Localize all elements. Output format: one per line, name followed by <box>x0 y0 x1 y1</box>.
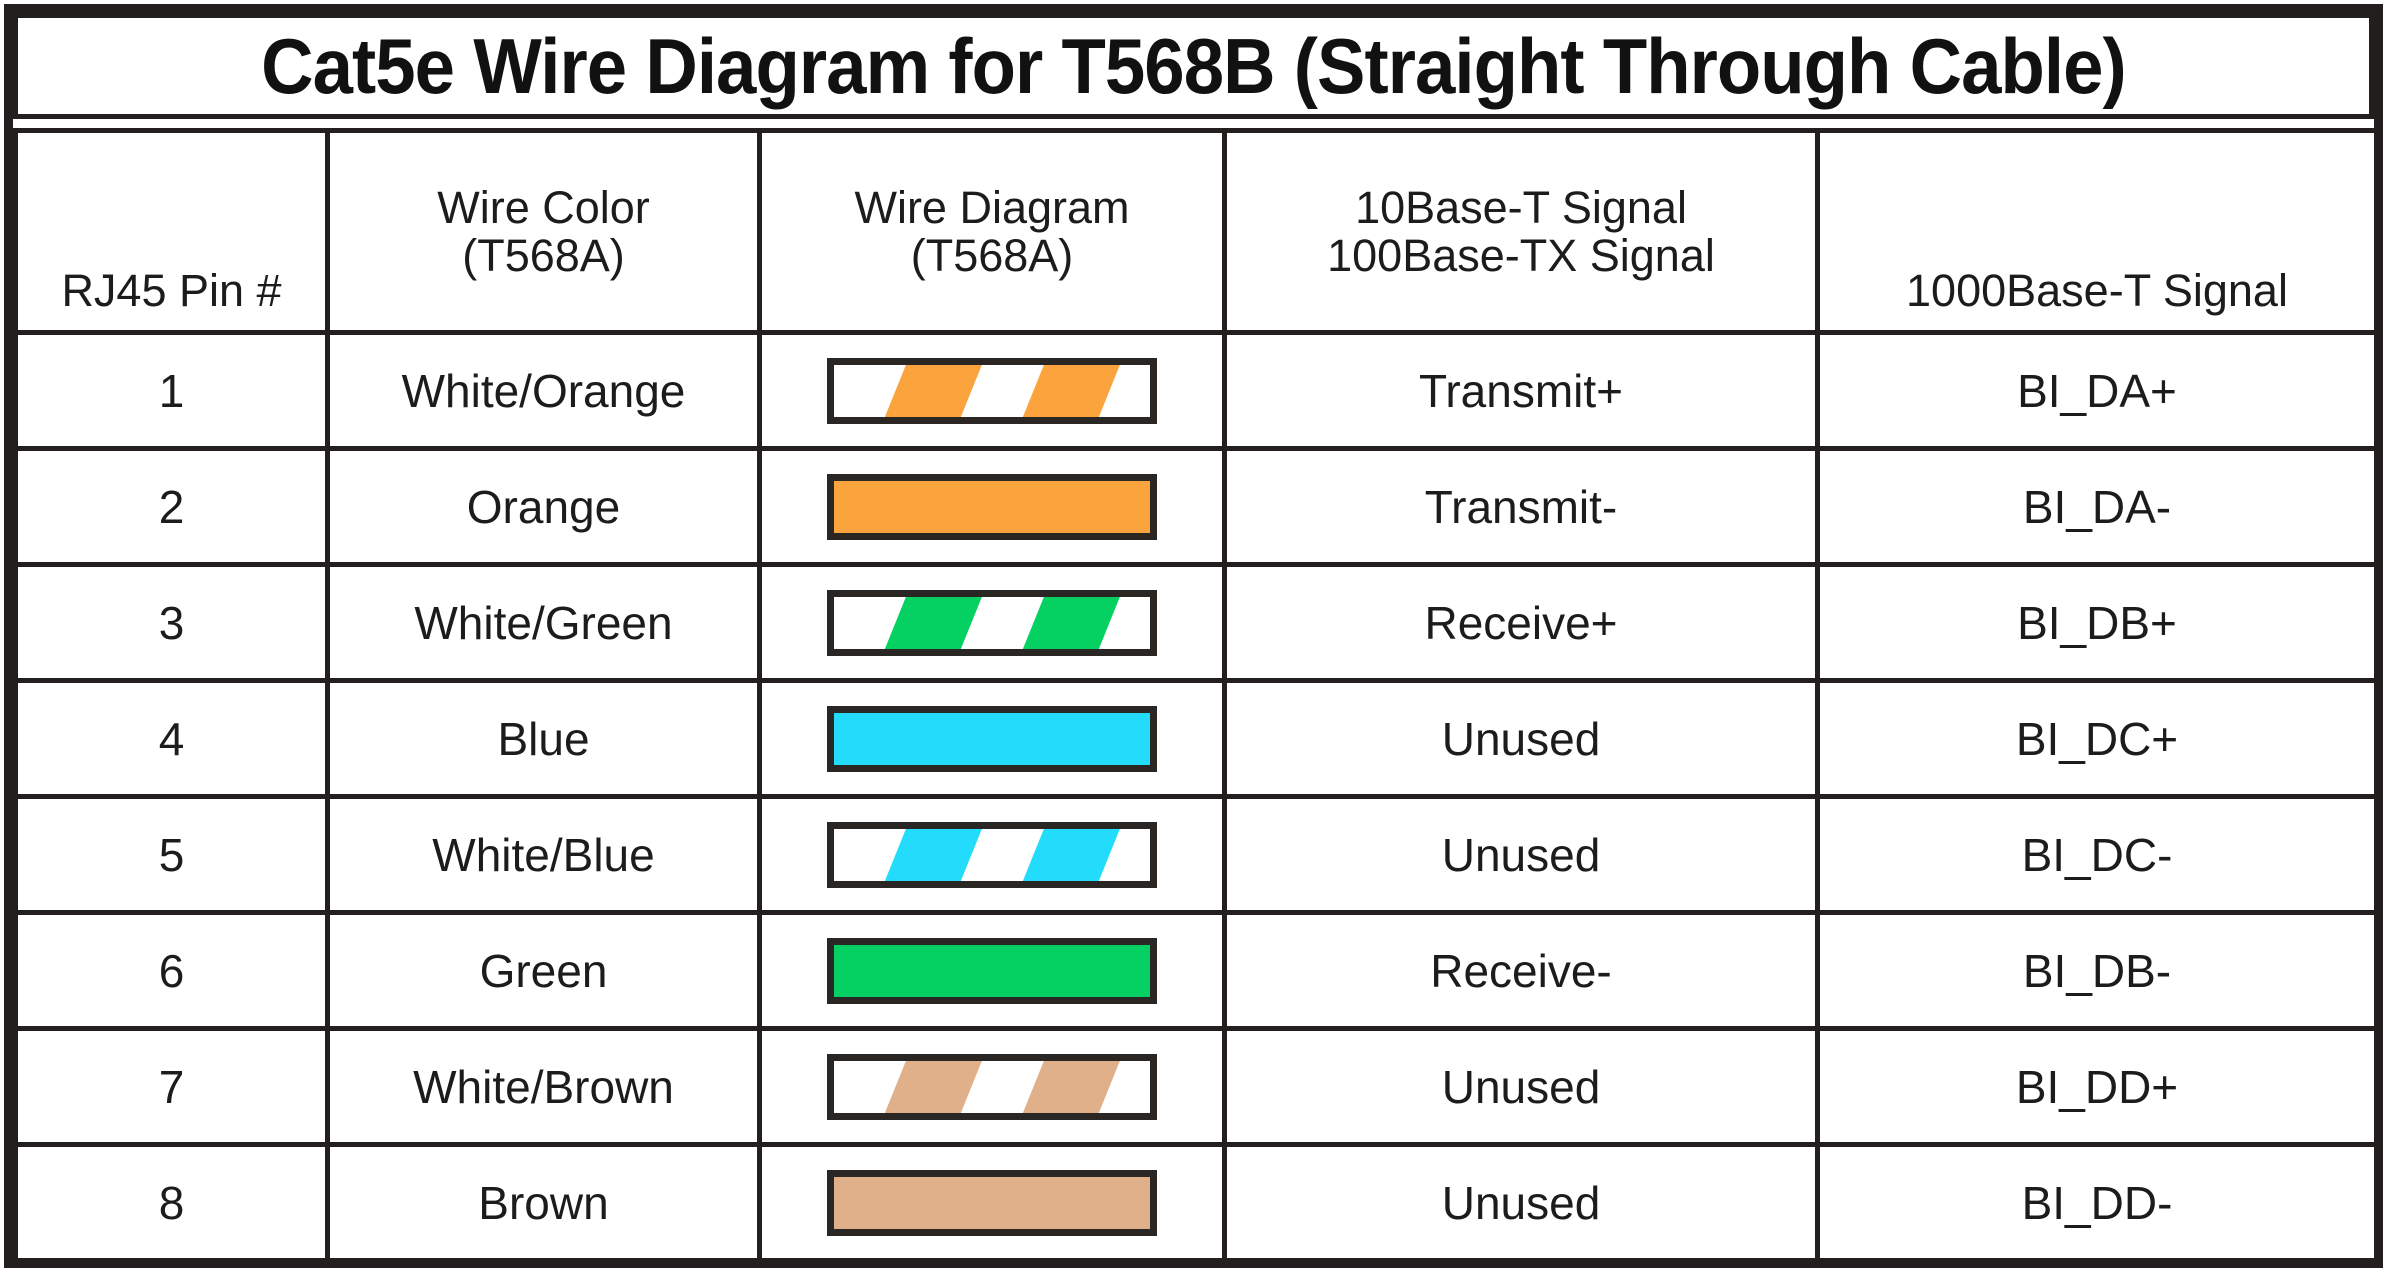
signal-10-100-cell: Unused <box>1225 1145 1818 1261</box>
signal-10-100-cell: Transmit- <box>1225 449 1818 565</box>
wire-swatch-inner <box>834 365 1150 417</box>
wire-stripe-1 <box>881 365 986 417</box>
table-row: 8BrownUnusedBI_DD- <box>16 1145 2377 1261</box>
table-row: 4BlueUnusedBI_DC+ <box>16 681 2377 797</box>
pin-number-cell: 7 <box>16 1029 328 1145</box>
column-header-signal-1000base-line: 1000Base-T Signal <box>1826 267 2368 314</box>
table-header-row: RJ45 Pin # Wire Color (T568A) Wire Diagr… <box>16 131 2377 333</box>
column-header-signal-10-100: 10Base-T Signal 100Base-TX Signal <box>1225 131 1818 333</box>
signal-1000-cell: BI_DB- <box>1818 913 2377 1029</box>
signal-10-100-cell: Unused <box>1225 797 1818 913</box>
wire-color-name-cell: White/Brown <box>328 1029 760 1145</box>
signal-1000-cell: BI_DA- <box>1818 449 2377 565</box>
signal-10-100-cell: Receive- <box>1225 913 1818 1029</box>
column-header-signal-100base-line: 100Base-TX Signal <box>1233 232 1809 279</box>
wire-stripe-2 <box>1019 597 1124 649</box>
pin-number-cell: 8 <box>16 1145 328 1261</box>
cat5e-wire-diagram: Cat5e Wire Diagram for T568B (Straight T… <box>0 0 2387 1272</box>
wire-diagram-cell <box>760 565 1225 681</box>
column-header-wire-diagram-line2: (T568A) <box>768 232 1216 279</box>
wire-swatch-inner <box>834 1061 1150 1113</box>
wire-swatch-inner <box>834 597 1150 649</box>
signal-10-100-cell: Unused <box>1225 681 1818 797</box>
column-header-wire-diagram-line1: Wire Diagram <box>768 184 1216 231</box>
table-row: 6GreenReceive-BI_DB- <box>16 913 2377 1029</box>
signal-1000-cell: BI_DC- <box>1818 797 2377 913</box>
wire-color-name-cell: Green <box>328 913 760 1029</box>
column-header-wire-diagram: Wire Diagram (T568A) <box>760 131 1225 333</box>
brown-solid-wire <box>827 1170 1157 1236</box>
wire-stripe-2 <box>1019 365 1124 417</box>
signal-10-100-cell: Unused <box>1225 1029 1818 1145</box>
signal-1000-cell: BI_DA+ <box>1818 333 2377 449</box>
wire-stripe-1 <box>881 597 986 649</box>
green-solid-wire <box>827 938 1157 1004</box>
wire-color-name-cell: White/Blue <box>328 797 760 913</box>
wire-diagram-cell <box>760 681 1225 797</box>
white-blue-striped-wire <box>827 822 1157 888</box>
table-row: 2OrangeTransmit-BI_DA- <box>16 449 2377 565</box>
white-brown-striped-wire <box>827 1054 1157 1120</box>
signal-1000-cell: BI_DB+ <box>1818 565 2377 681</box>
diagram-title-band: Cat5e Wire Diagram for T568B (Straight T… <box>13 13 2374 119</box>
wire-solid-fill <box>834 481 1150 533</box>
wire-diagram-cell <box>760 333 1225 449</box>
blue-solid-wire <box>827 706 1157 772</box>
table-row: 3White/GreenReceive+BI_DB+ <box>16 565 2377 681</box>
wire-stripe-2 <box>1019 1061 1124 1113</box>
wire-color-name-cell: White/Green <box>328 565 760 681</box>
column-header-pin-line2: RJ45 Pin # <box>24 267 319 314</box>
wiring-table: RJ45 Pin # Wire Color (T568A) Wire Diagr… <box>13 128 2379 1263</box>
column-header-pin: RJ45 Pin # <box>16 131 328 333</box>
wire-stripe-1 <box>881 1061 986 1113</box>
white-orange-striped-wire <box>827 358 1157 424</box>
column-header-signal-10base-line: 10Base-T Signal <box>1233 184 1809 231</box>
wire-diagram-cell <box>760 797 1225 913</box>
wire-color-name-cell: White/Orange <box>328 333 760 449</box>
pin-number-cell: 4 <box>16 681 328 797</box>
wire-solid-fill <box>834 945 1150 997</box>
signal-1000-cell: BI_DD+ <box>1818 1029 2377 1145</box>
table-row: 1White/OrangeTransmit+BI_DA+ <box>16 333 2377 449</box>
table-row: 5White/BlueUnusedBI_DC- <box>16 797 2377 913</box>
wire-diagram-cell <box>760 1145 1225 1261</box>
orange-solid-wire <box>827 474 1157 540</box>
table-body: 1White/OrangeTransmit+BI_DA+2OrangeTrans… <box>16 333 2377 1261</box>
signal-1000-cell: BI_DD- <box>1818 1145 2377 1261</box>
wire-color-name-cell: Blue <box>328 681 760 797</box>
wire-diagram-cell <box>760 913 1225 1029</box>
wire-swatch-inner <box>834 829 1150 881</box>
wire-solid-fill <box>834 713 1150 765</box>
wire-stripe-2 <box>1019 829 1124 881</box>
wire-solid-fill <box>834 1177 1150 1229</box>
column-header-wire-color: Wire Color (T568A) <box>328 131 760 333</box>
table-header: RJ45 Pin # Wire Color (T568A) Wire Diagr… <box>16 131 2377 333</box>
wire-diagram-cell <box>760 449 1225 565</box>
pin-number-cell: 2 <box>16 449 328 565</box>
pin-number-cell: 3 <box>16 565 328 681</box>
wire-color-name-cell: Brown <box>328 1145 760 1261</box>
wire-swatch-inner <box>834 1177 1150 1229</box>
column-header-wire-color-line1: Wire Color <box>336 184 751 231</box>
white-green-striped-wire <box>827 590 1157 656</box>
wiring-table-container: RJ45 Pin # Wire Color (T568A) Wire Diagr… <box>13 128 2374 1259</box>
column-header-signal-1000: 1000Base-T Signal <box>1818 131 2377 333</box>
pin-number-cell: 1 <box>16 333 328 449</box>
page-title: Cat5e Wire Diagram for T568B (Straight T… <box>261 27 2126 105</box>
pin-number-cell: 6 <box>16 913 328 1029</box>
wire-swatch-inner <box>834 481 1150 533</box>
wire-diagram-cell <box>760 1029 1225 1145</box>
wire-swatch-inner <box>834 713 1150 765</box>
pin-number-cell: 5 <box>16 797 328 913</box>
table-row: 7White/BrownUnusedBI_DD+ <box>16 1029 2377 1145</box>
signal-10-100-cell: Receive+ <box>1225 565 1818 681</box>
wire-color-name-cell: Orange <box>328 449 760 565</box>
wire-swatch-inner <box>834 945 1150 997</box>
signal-1000-cell: BI_DC+ <box>1818 681 2377 797</box>
wire-stripe-1 <box>881 829 986 881</box>
signal-10-100-cell: Transmit+ <box>1225 333 1818 449</box>
column-header-wire-color-line2: (T568A) <box>336 232 751 279</box>
